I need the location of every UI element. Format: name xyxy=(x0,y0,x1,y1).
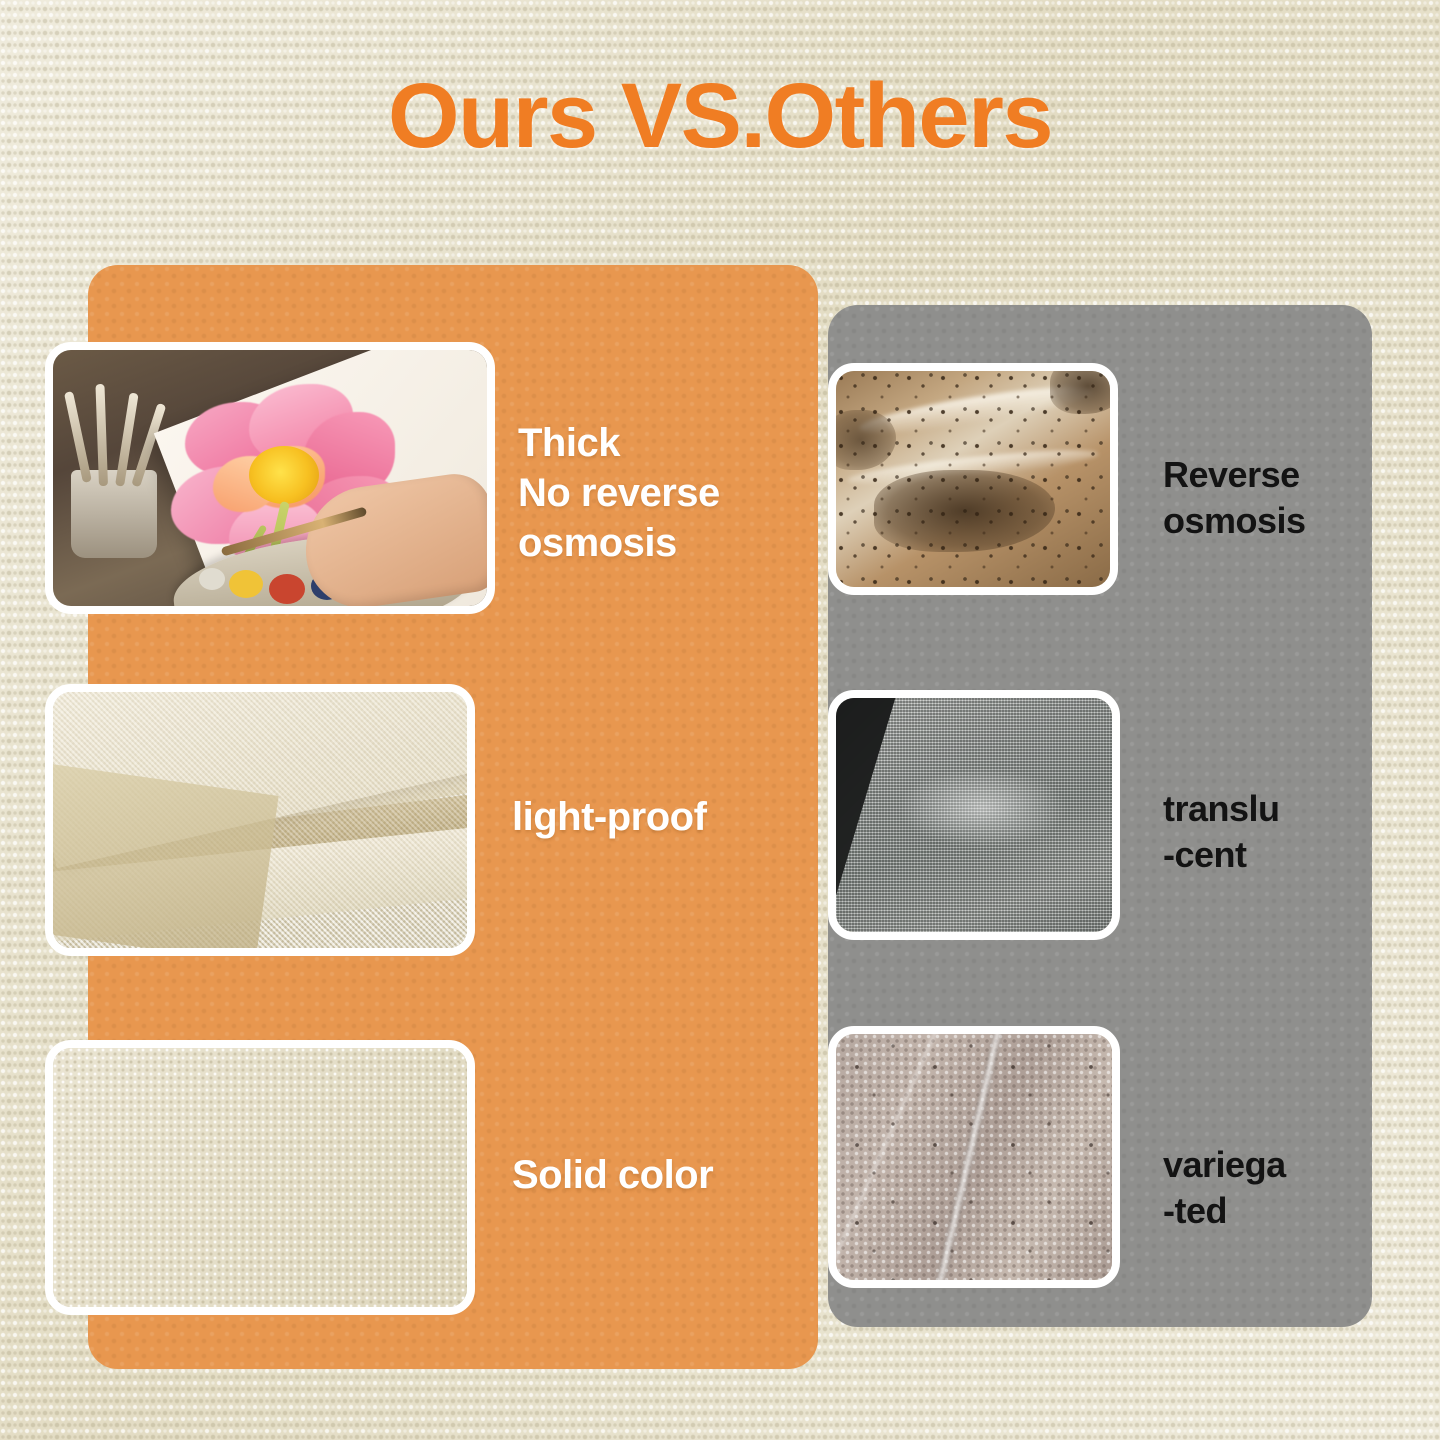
translucent-gray-canvas-shadow-through xyxy=(836,698,1112,932)
others-row-1-image-card xyxy=(828,363,1118,595)
others-row-3-image-card xyxy=(828,1026,1120,1288)
comparison-infographic: Ours VS.Others xyxy=(0,0,1440,1440)
others-row-1-label: Reverse osmosis xyxy=(1163,452,1383,544)
ours-row-2-image-card xyxy=(45,684,475,956)
brown-stained-speckled-fabric xyxy=(836,371,1110,587)
ours-row-2-label: light-proof xyxy=(512,792,802,842)
variegated-mauve-canvas-crease xyxy=(836,1034,1112,1280)
others-row-2-image-card xyxy=(828,690,1120,940)
ours-row-3-image-card xyxy=(45,1040,475,1315)
solid-cream-canvas-swatch xyxy=(53,1048,467,1307)
ours-row-1-image-card xyxy=(45,342,495,614)
ours-row-3-label: Solid color xyxy=(512,1150,802,1200)
folded-cream-canvas-layers xyxy=(53,692,467,948)
page-title: Ours VS.Others xyxy=(0,64,1440,168)
others-row-2-label: translu -cent xyxy=(1163,786,1393,878)
artist-painting-pink-peony-on-canvas xyxy=(53,350,487,606)
others-row-3-label: variega -ted xyxy=(1163,1142,1393,1234)
ours-row-1-label: Thick No reverse osmosis xyxy=(518,418,778,568)
